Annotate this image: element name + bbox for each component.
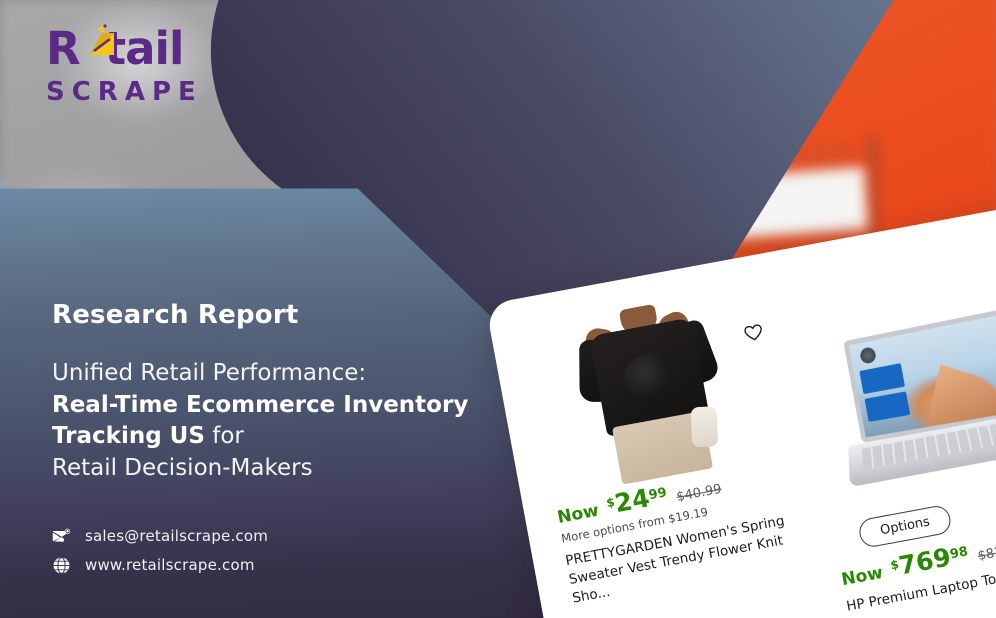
heart-icon[interactable] <box>743 323 765 343</box>
email-icon <box>52 527 71 546</box>
price-cents: 99 <box>648 485 669 503</box>
now-label: Now <box>840 563 885 590</box>
email-address: sales@retailscrape.com <box>85 527 268 545</box>
contact-email-row[interactable]: sales@retailscrape.com <box>52 527 482 546</box>
report-headline: Unified Retail Performance: Real-Time Ec… <box>52 358 482 485</box>
windows-tile <box>864 391 910 422</box>
contact-website-row[interactable]: www.retailscrape.com <box>52 556 482 575</box>
brand-letter-r: R <box>46 22 80 75</box>
headline-line-4: Retail Decision-Makers <box>52 455 313 481</box>
brand-logo[interactable]: Rtail SCRAPE <box>46 26 203 107</box>
laptop-illustration <box>826 307 996 492</box>
product-item-apparel[interactable]: Now $2499 $40.99 More options from $19.1… <box>521 275 820 609</box>
now-label: Now <box>556 501 601 528</box>
price-whole: 24 <box>612 483 651 518</box>
brand-tagline: SCRAPE <box>46 77 203 107</box>
product-image-laptop <box>798 299 996 520</box>
product-title-apparel[interactable]: PRETTYGARDEN Women's Spring Sweater Vest… <box>564 507 820 609</box>
bird-arrow-mark-icon <box>84 21 120 61</box>
globe-icon <box>52 556 71 575</box>
headline-line-1: Unified Retail Performance: <box>52 360 366 386</box>
report-kicker: Research Report <box>52 300 482 330</box>
brand-wordmark: Rtail <box>46 26 203 71</box>
headline-after-bold: for <box>212 423 244 449</box>
poster-canvas: Rtail SCRAPE Research Report Unified Ret… <box>0 0 996 618</box>
contact-list: sales@retailscrape.com www.retailscrape.… <box>52 527 482 575</box>
model-handbag <box>691 406 719 447</box>
was-price: $40.99 <box>675 482 722 505</box>
model-illustration <box>561 292 740 488</box>
price-cents: 98 <box>949 544 970 562</box>
website-url: www.retailscrape.com <box>85 556 255 574</box>
product-item-laptop[interactable]: Options Now $76998 $829.00 HP Premium La… <box>798 299 996 617</box>
hero-content: Research Report Unified Retail Performan… <box>52 300 482 585</box>
was-price: $829.00 <box>977 539 996 564</box>
headline-bold: Real-Time Ecommerce Inventory Tracking U… <box>52 392 468 450</box>
price-whole: 769 <box>896 542 953 580</box>
current-price: $76998 <box>888 539 971 582</box>
